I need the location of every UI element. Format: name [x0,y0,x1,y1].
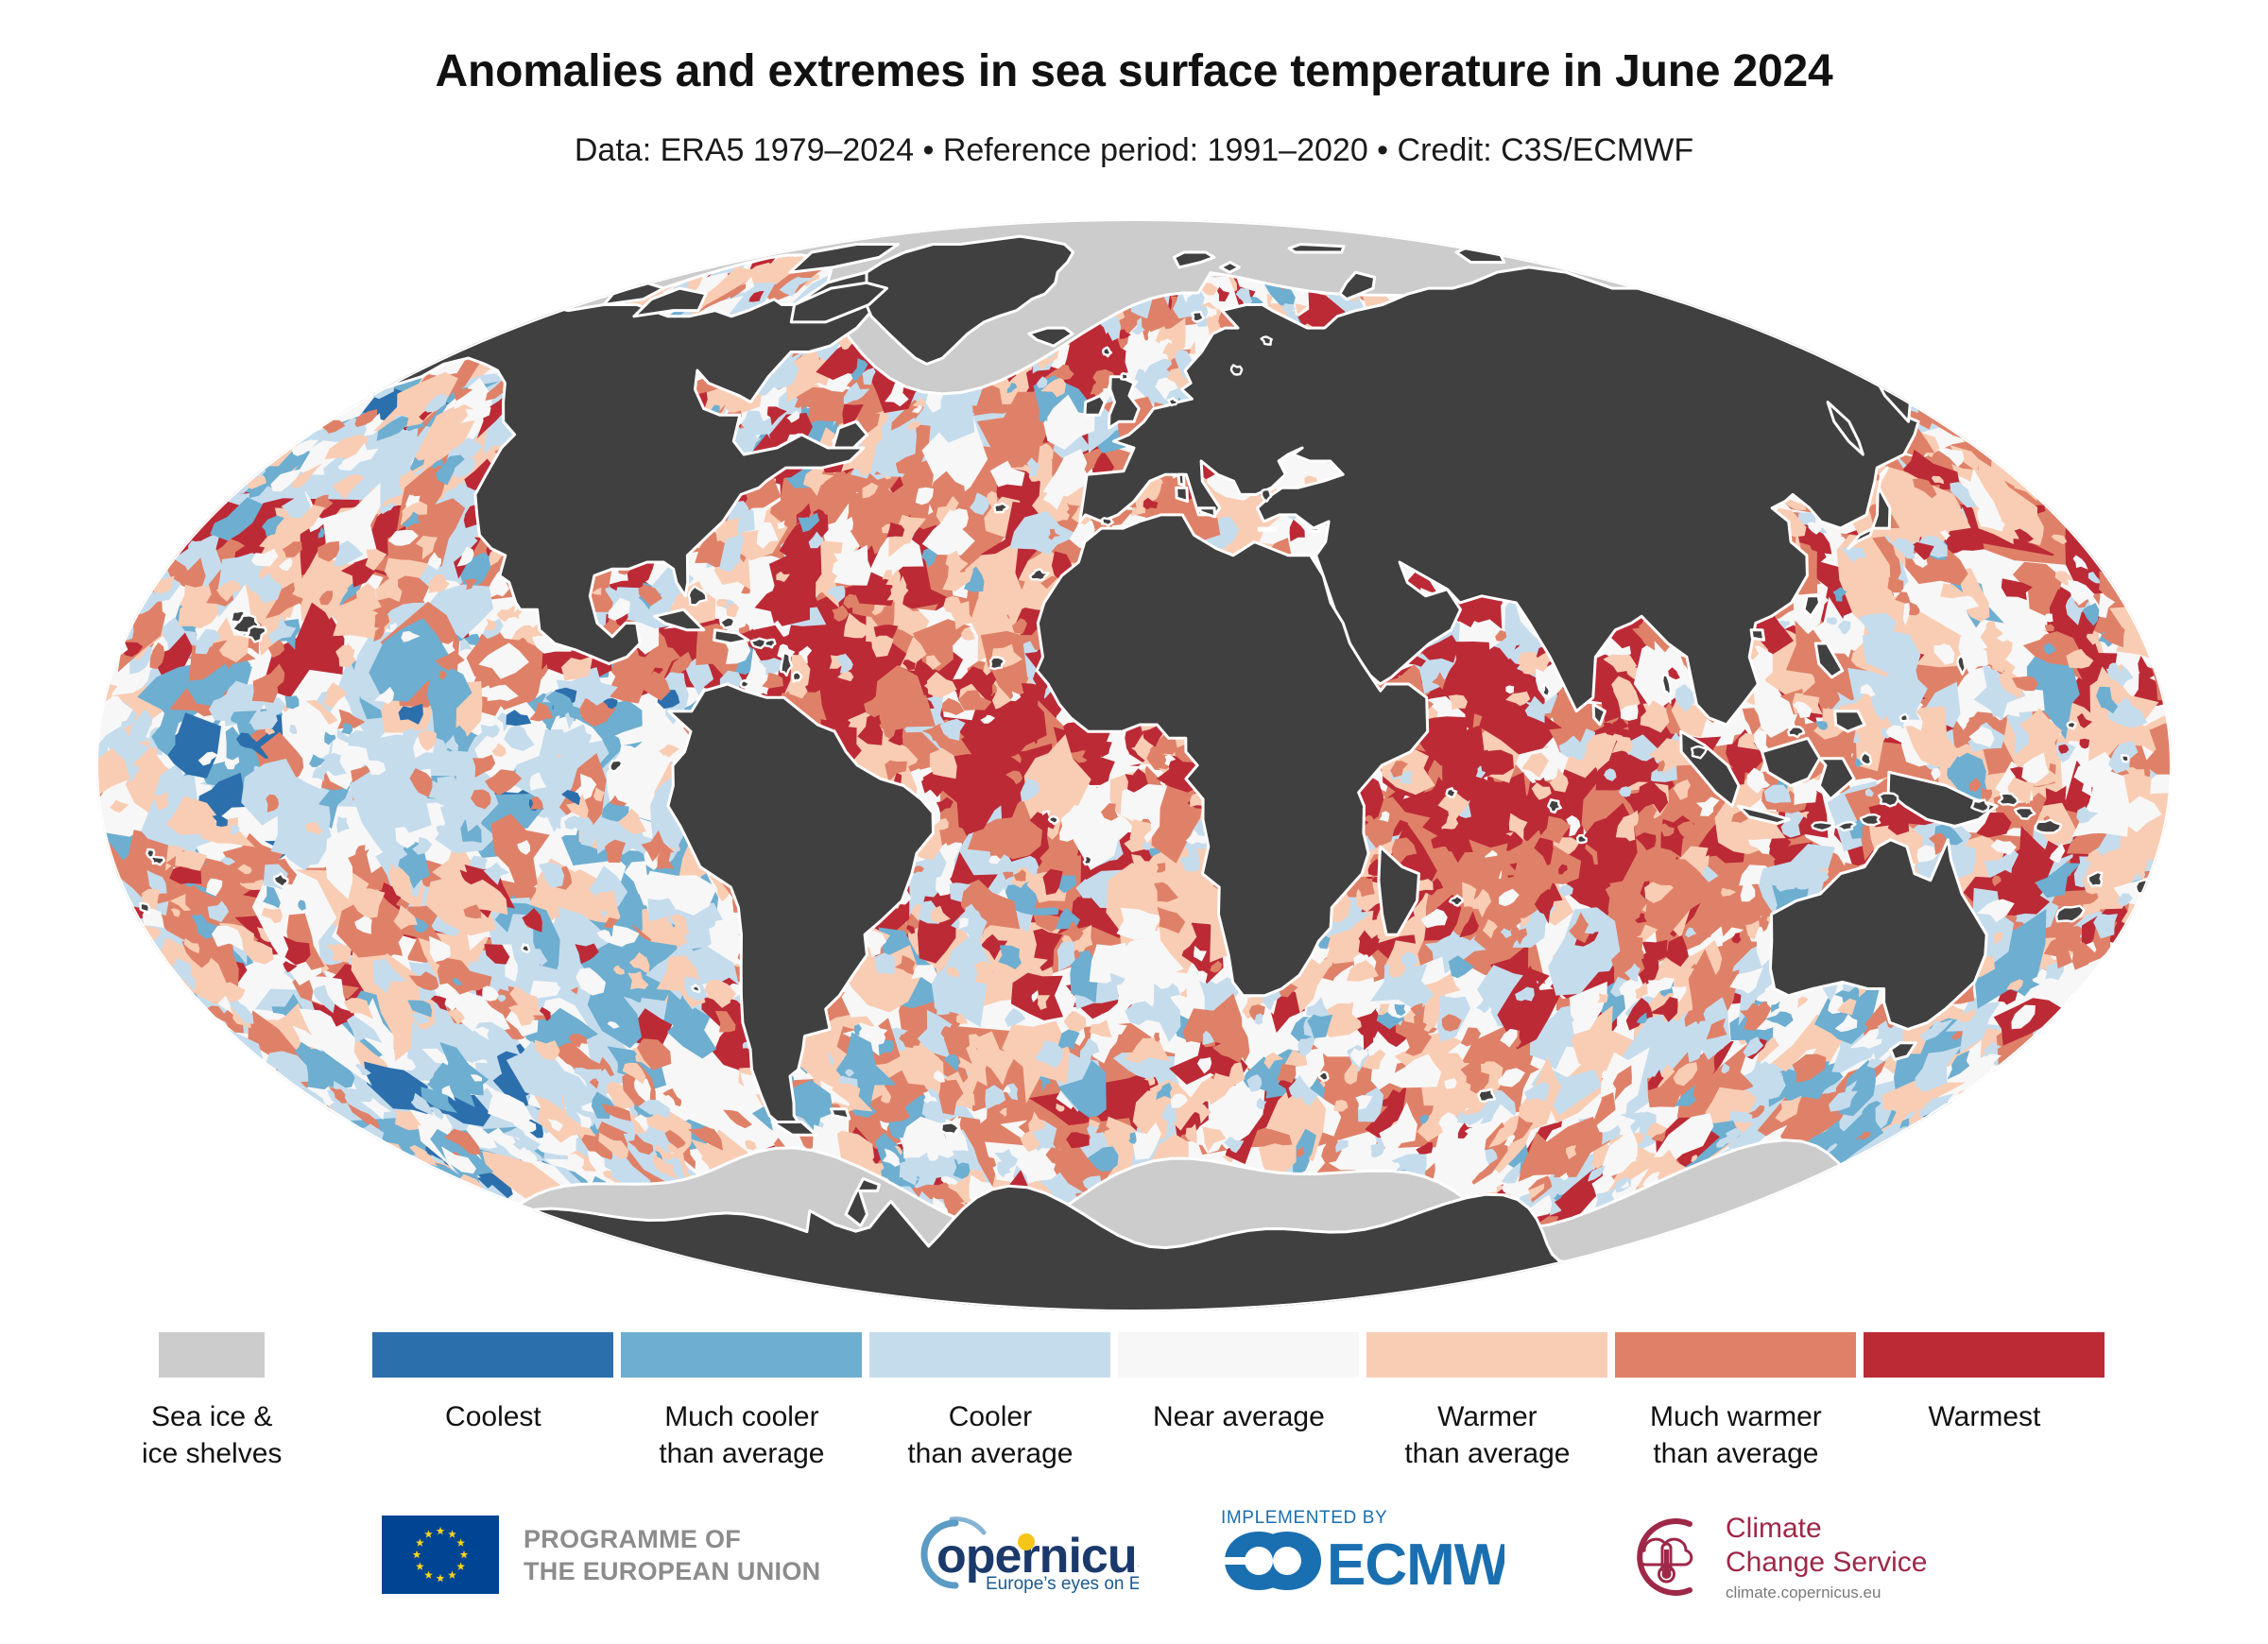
c3s-name: Climate Change Service [1726,1512,1927,1580]
legend-swatch [159,1332,265,1378]
climate-change-service-logo: Climate Change Service climate.copernicu… [1624,1512,1927,1602]
map-svg [94,217,2173,1313]
legend-swatch [1864,1332,2105,1378]
climate-cloud-thermometer-icon [1624,1512,1714,1602]
legend-item: Much warmer than average [1615,1332,1856,1472]
svg-text:ECMWF: ECMWF [1327,1533,1504,1592]
legend-item: Warmest [1864,1332,2105,1435]
ecmwf-logo: IMPLEMENTED BY ECMWF [1221,1508,1504,1597]
legend-item: Coolest [372,1332,613,1435]
copernicus-wordmark-icon: opernicus Europe’s eyes on Earth [902,1514,1139,1595]
svg-text:Europe’s eyes on Earth: Europe’s eyes on Earth [986,1574,1139,1594]
footer-logos: PROGRAMME OF THE EUROPEAN UNION opernicu… [0,1508,2268,1644]
legend-label: Cooler than average [907,1398,1073,1472]
legend-swatch [1366,1332,1607,1378]
eu-logo-text: PROGRAMME OF THE EUROPEAN UNION [524,1523,820,1587]
legend-item: Near average [1118,1332,1359,1435]
c3s-url: climate.copernicus.eu [1726,1584,1927,1602]
legend-label: Near average [1153,1398,1325,1435]
legend-item: Much cooler than average [621,1332,862,1472]
legend-item: Warmer than average [1366,1332,1607,1472]
legend: Sea ice & ice shelvesCoolestMuch cooler … [0,1323,2268,1512]
legend-label: Warmest [1928,1398,2040,1435]
legend-swatch [869,1332,1110,1378]
ecmwf-wordmark-icon: ECMWF [1221,1530,1504,1592]
legend-swatch [372,1332,613,1378]
page-subtitle: Data: ERA5 1979–2024 • Reference period:… [0,132,2268,169]
legend-label: Coolest [445,1398,541,1435]
legend-swatch [1118,1332,1359,1378]
legend-label: Sea ice & ice shelves [142,1398,282,1472]
eu-flag-icon [382,1516,499,1594]
ecmwf-implemented-by-label: IMPLEMENTED BY [1221,1508,1504,1529]
legend-item: Sea ice & ice shelves [142,1332,282,1472]
legend-label: Much cooler than average [659,1398,824,1472]
legend-item: Cooler than average [869,1332,1110,1472]
c3s-text-block: Climate Change Service climate.copernicu… [1726,1512,1927,1602]
legend-swatch [621,1332,862,1378]
eu-stars-icon [382,1516,499,1594]
page-title: Anomalies and extremes in sea surface te… [0,45,2268,97]
copernicus-logo: opernicus Europe’s eyes on Earth [902,1514,1139,1600]
legend-swatch [1615,1332,1856,1378]
legend-row: Sea ice & ice shelvesCoolestMuch cooler … [142,1332,2112,1472]
legend-label: Warmer than average [1404,1398,1570,1472]
eu-logo: PROGRAMME OF THE EUROPEAN UNION [382,1516,820,1594]
world-map [94,217,2173,1313]
legend-label: Much warmer than average [1650,1398,1822,1472]
sst-anomaly-infographic: Anomalies and extremes in sea surface te… [0,0,2268,1644]
